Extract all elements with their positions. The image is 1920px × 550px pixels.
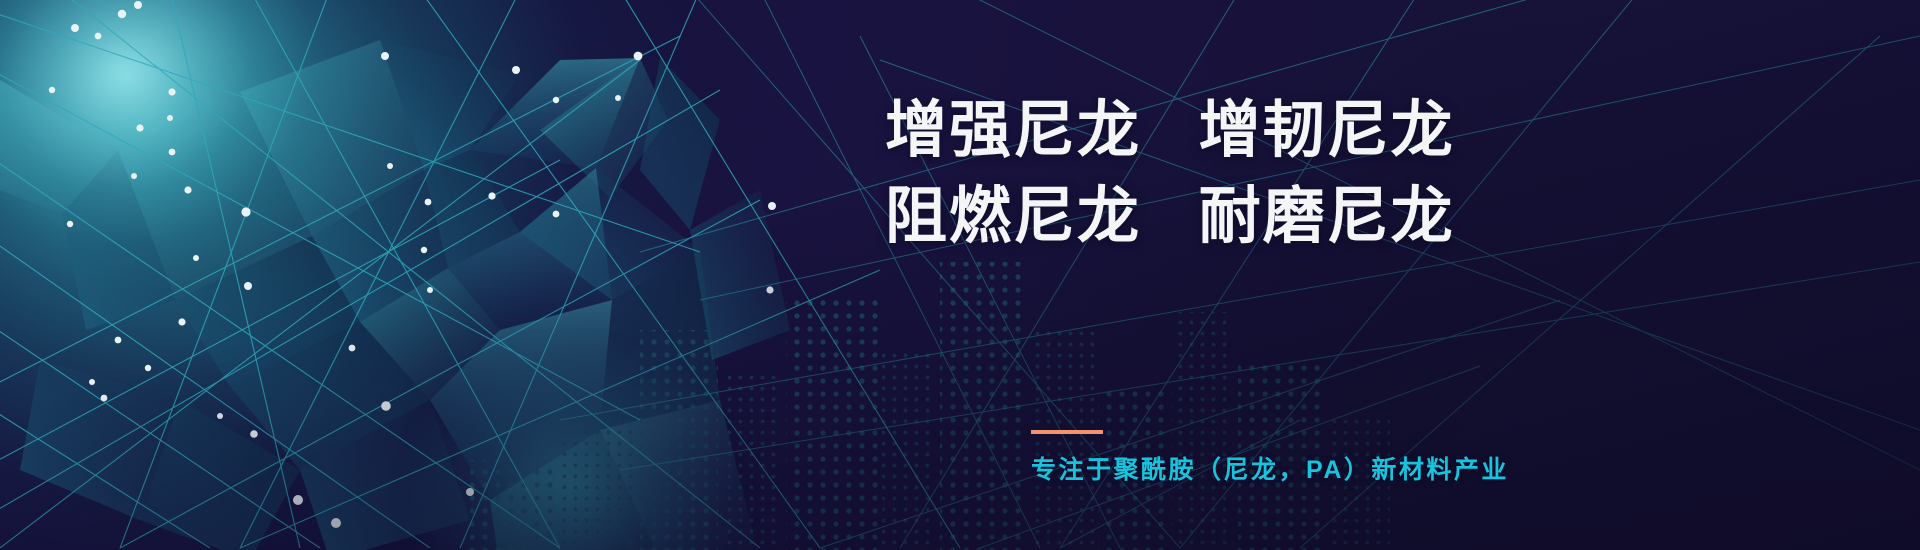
hero-banner: 增强尼龙 增韧尼龙 阻燃尼龙 耐磨尼龙 专注于聚酰胺（尼龙，PA）新材料产业 [0, 0, 1920, 550]
headline-line-1: 增强尼龙 增韧尼龙 [885, 88, 1920, 174]
headline-line-2: 阻燃尼龙 耐磨尼龙 [885, 174, 1920, 260]
tagline-text: 专注于聚酰胺（尼龙，PA）新材料产业 [1031, 450, 1509, 486]
tagline-block: 专注于聚酰胺（尼龙，PA）新材料产业 [1031, 430, 1509, 486]
banner-content: 增强尼龙 增韧尼龙 阻燃尼龙 耐磨尼龙 专注于聚酰胺（尼龙，PA）新材料产业 [885, 0, 1920, 550]
headline-block: 增强尼龙 增韧尼龙 阻燃尼龙 耐磨尼龙 [885, 88, 1920, 260]
tagline-divider-rule [1031, 430, 1103, 434]
